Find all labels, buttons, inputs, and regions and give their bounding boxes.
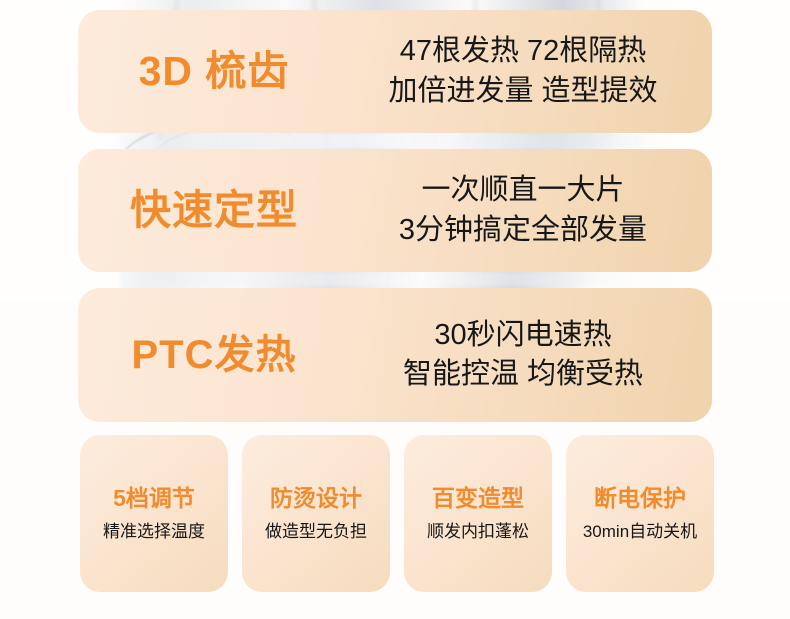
backdrop-band [140, 133, 660, 149]
feature-row-line: 加倍进发量 造型提效 [350, 72, 696, 111]
mini-card-title: 5档调节 [113, 487, 195, 510]
feature-row-line: 30秒闪电速热 [350, 316, 696, 355]
feature-row-description: 30秒闪电速热 智能控温 均衡受热 [350, 316, 712, 395]
mini-card-subtitle: 顺发内扣蓬松 [427, 523, 529, 540]
feature-row-title: 快速定型 [78, 190, 350, 231]
mini-card-title: 百变造型 [432, 487, 524, 510]
mini-card-anti-scald: 防烫设计 做造型无负担 [242, 435, 390, 592]
feature-row-description: 一次顺直一大片 3分钟搞定全部发量 [350, 171, 712, 250]
feature-row-line: 一次顺直一大片 [350, 171, 696, 210]
feature-row-line: 智能控温 均衡受热 [350, 355, 696, 394]
feature-row-title: 3D 梳齿 [78, 51, 350, 92]
feature-row-line: 3分钟搞定全部发量 [350, 211, 696, 250]
mini-card-subtitle: 精准选择温度 [103, 523, 205, 540]
feature-row-title: PTC发热 [78, 335, 350, 375]
mini-card-title: 断电保护 [594, 487, 686, 510]
mini-card-auto-shutoff: 断电保护 30min自动关机 [566, 435, 714, 592]
feature-row-3d-comb: 3D 梳齿 47根发热 72根隔热 加倍进发量 造型提效 [78, 10, 712, 133]
feature-row-line: 47根发热 72根隔热 [350, 32, 696, 71]
product-feature-infographic: 3D 梳齿 47根发热 72根隔热 加倍进发量 造型提效 快速定型 一次顺直一大… [0, 0, 790, 619]
feature-row-ptc-heating: PTC发热 30秒闪电速热 智能控温 均衡受热 [78, 288, 712, 422]
feature-row-fast-styling: 快速定型 一次顺直一大片 3分钟搞定全部发量 [78, 149, 712, 272]
mini-card-subtitle: 30min自动关机 [583, 523, 697, 540]
backdrop-band [160, 272, 630, 286]
mini-card-versatile-styling: 百变造型 顺发内扣蓬松 [404, 435, 552, 592]
mini-card-temperature-levels: 5档调节 精准选择温度 [80, 435, 228, 592]
mini-card-title: 防烫设计 [270, 487, 362, 510]
mini-card-subtitle: 做造型无负担 [265, 523, 367, 540]
feature-row-description: 47根发热 72根隔热 加倍进发量 造型提效 [350, 32, 712, 111]
